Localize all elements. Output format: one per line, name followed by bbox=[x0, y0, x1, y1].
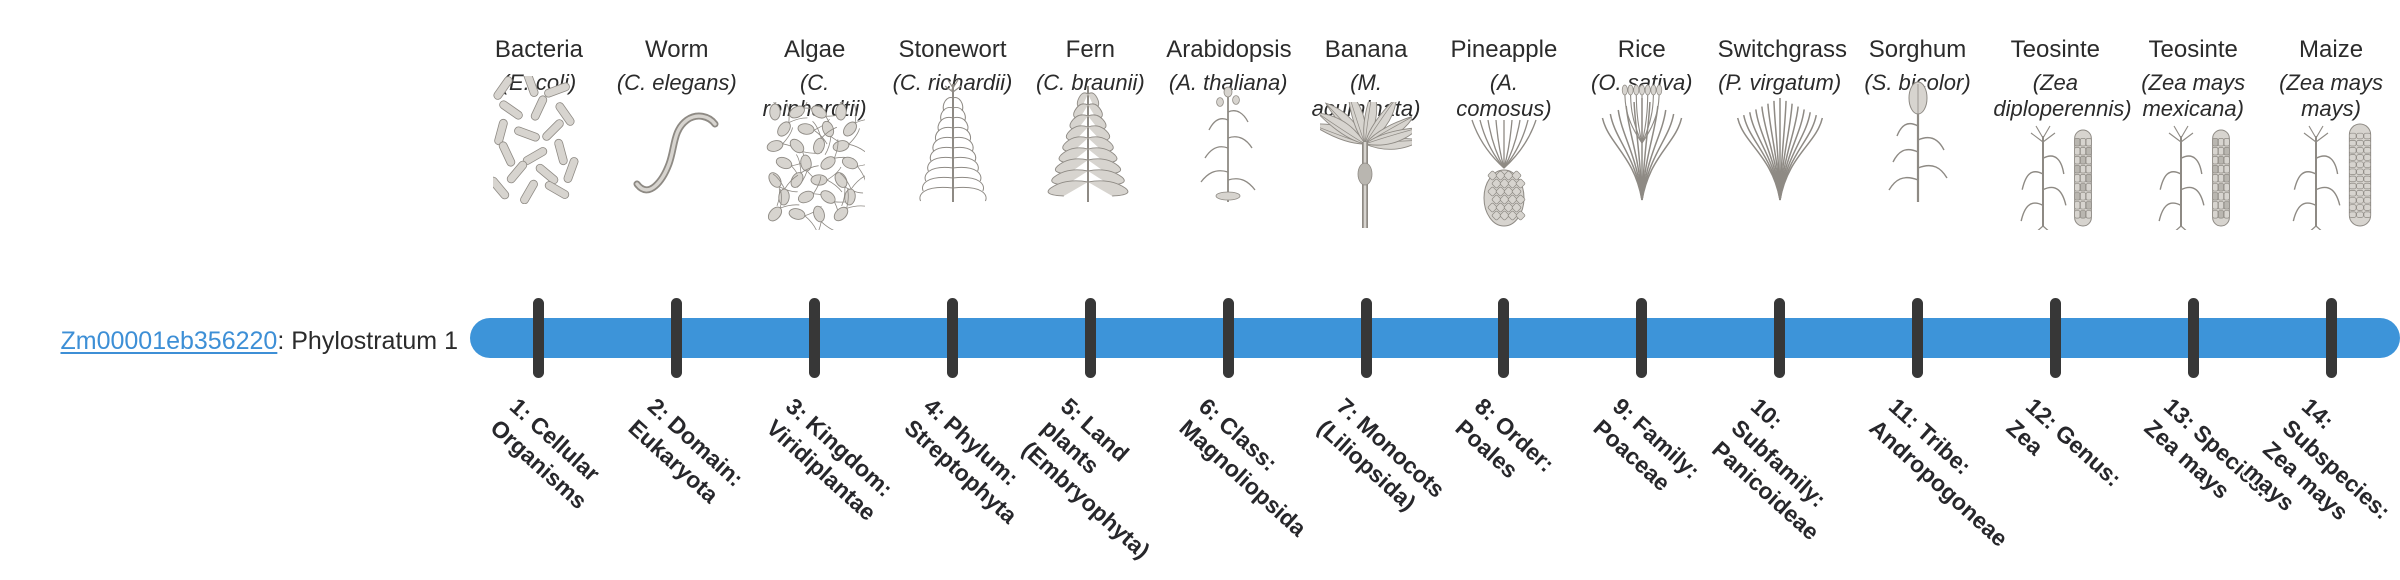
taxonomic-rank-label: 5: Land plants (Embryophyta) bbox=[1016, 392, 1186, 557]
taxonomic-rank-label: 1: Cellular Organisms bbox=[484, 392, 634, 535]
species-scientific-name: (Zea mays mays) bbox=[2269, 70, 2393, 122]
algae-icon bbox=[753, 130, 877, 230]
taxonomic-rank-label: 6: Class: Magnoliopsida bbox=[1173, 392, 1323, 535]
species-common-name: Arabidopsis bbox=[1166, 36, 1290, 64]
arabidopsis-icon bbox=[1166, 104, 1290, 204]
timeline-tick bbox=[1774, 298, 1785, 378]
rice-icon bbox=[1580, 104, 1704, 204]
timeline-tick bbox=[1636, 298, 1647, 378]
timeline-tick bbox=[533, 298, 544, 378]
gene-phylostratum-text: : Phylostratum 1 bbox=[277, 327, 458, 355]
pineapple-icon bbox=[1442, 130, 1566, 230]
timeline-tick bbox=[2050, 298, 2061, 378]
taxonomic-rank-label: 10: Subfamily: Panicoideae bbox=[1705, 392, 1875, 557]
species-common-name: Pineapple bbox=[1442, 36, 1566, 64]
sorghum-icon bbox=[1856, 104, 1980, 204]
banana-icon bbox=[1304, 130, 1428, 230]
species-common-name: Maize bbox=[2269, 36, 2393, 64]
taxonomic-rank-label: 2: Domain: Eukaryota bbox=[622, 392, 772, 535]
gene-phylostratum-label: Zm00001eb356220: Phylostratum 1 bbox=[0, 326, 470, 356]
stonewort-icon bbox=[891, 104, 1015, 204]
taxonomic-rank-label: 11: Tribe: Andropogoneae bbox=[1863, 392, 2013, 535]
species-common-name: Rice bbox=[1580, 36, 1704, 64]
switchgrass-icon bbox=[1718, 104, 1842, 204]
timeline-tick bbox=[1223, 298, 1234, 378]
teosinte-icon bbox=[1993, 130, 2117, 230]
timeline-tick bbox=[1498, 298, 1509, 378]
species-common-name: Stonewort bbox=[891, 36, 1015, 64]
species-common-name: Algae bbox=[753, 36, 877, 64]
timeline-tick bbox=[1361, 298, 1372, 378]
timeline-tick bbox=[671, 298, 682, 378]
bacteria-icon bbox=[477, 104, 601, 204]
timeline-tick bbox=[2188, 298, 2199, 378]
timeline-tick bbox=[1085, 298, 1096, 378]
species-common-name: Switchgrass bbox=[1718, 36, 1842, 64]
timeline-tick bbox=[1912, 298, 1923, 378]
species-common-name: Bacteria bbox=[477, 36, 601, 64]
taxonomic-rank-label: 8: Order: Poales bbox=[1449, 392, 1599, 535]
species-common-name: Worm bbox=[615, 36, 739, 64]
species-common-name: Banana bbox=[1304, 36, 1428, 64]
timeline-tick bbox=[947, 298, 958, 378]
species-common-name: Sorghum bbox=[1856, 36, 1980, 64]
species-common-name: Fern bbox=[1028, 36, 1152, 64]
taxonomic-rank-label: 14: Subspecies: Zea mays mays bbox=[2237, 392, 2400, 579]
timeline-tick bbox=[2326, 298, 2337, 378]
phylostratum-timeline-bar bbox=[470, 318, 2400, 358]
species-common-name: Teosinte bbox=[2131, 36, 2255, 64]
species-common-name: Teosinte bbox=[1993, 36, 2117, 64]
taxonomic-rank-label: 3: Kingdom: Viridiplantae bbox=[760, 392, 910, 535]
taxonomic-rank-label: 12: Genus: Zea bbox=[2001, 392, 2151, 535]
maize-icon bbox=[2269, 130, 2393, 230]
species-scientific-name: (Zea mays mexicana) bbox=[2131, 70, 2255, 122]
species-scientific-name: (C. elegans) bbox=[615, 70, 739, 96]
fern-icon bbox=[1028, 104, 1152, 204]
gene-id-link[interactable]: Zm00001eb356220 bbox=[60, 327, 277, 355]
timeline-tick bbox=[809, 298, 820, 378]
species-scientific-name: (Zea diploperennis) bbox=[1993, 70, 2117, 122]
taxonomic-rank-label: 7: Monocots (Liliopsida) bbox=[1311, 392, 1461, 535]
phylostratum-diagram: Zm00001eb356220: Phylostratum 1 Bacteria… bbox=[0, 0, 2400, 580]
worm-icon bbox=[615, 104, 739, 204]
teosinte-icon bbox=[2131, 130, 2255, 230]
